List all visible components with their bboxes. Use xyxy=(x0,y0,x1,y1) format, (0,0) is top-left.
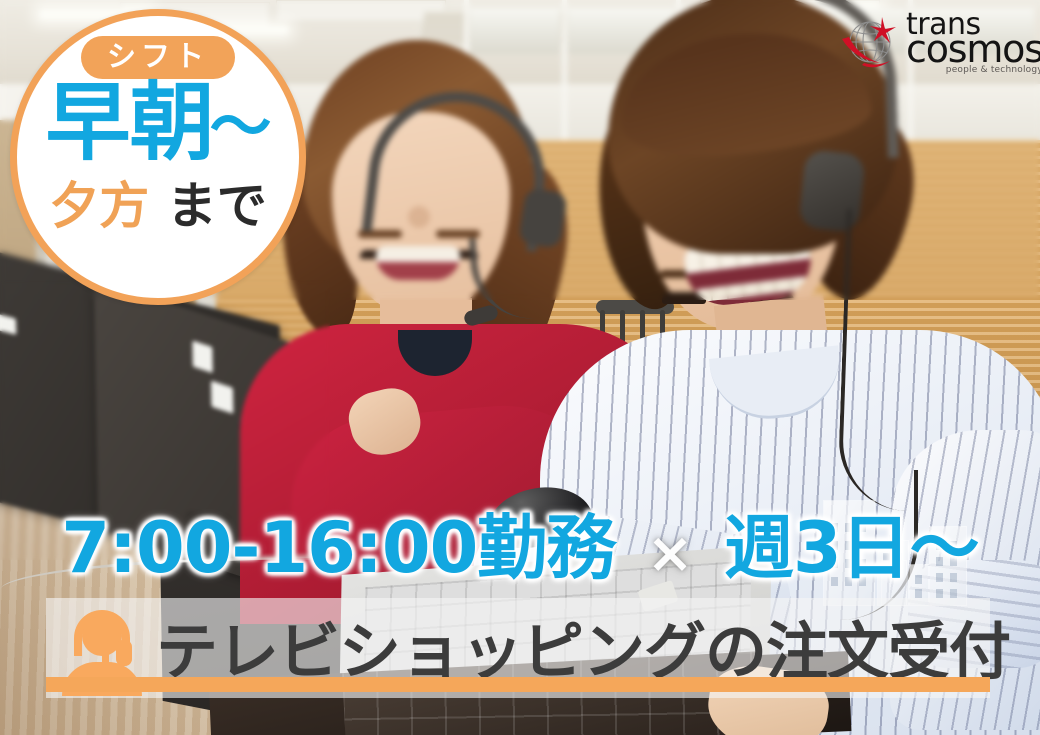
logo-tagline: people & technology xyxy=(906,67,1040,75)
shift-start-label: 早朝 〜 xyxy=(45,81,270,168)
logo-line-cosmos: cosmos xyxy=(906,34,1040,66)
recruitment-poster: シフト 早朝 〜 夕方 まで xyxy=(0,0,1040,735)
shift-end-suffix: まで xyxy=(167,177,267,235)
shift-headline: 7:00-16:00勤務 × 週3日〜 xyxy=(0,492,1040,593)
banner-underline xyxy=(46,677,990,692)
tilde-glyph: 〜 xyxy=(210,95,271,158)
shift-pill-label: シフト xyxy=(81,36,235,79)
globe-swoosh-icon xyxy=(840,13,900,73)
headline-separator: × xyxy=(639,521,701,586)
smiling-mouth xyxy=(376,246,460,280)
headline-frequency: 週3日〜 xyxy=(724,507,979,589)
headline-time-range: 7:00-16:00勤務 xyxy=(61,507,615,589)
ceiling-panel xyxy=(276,0,446,22)
laptop-sticker xyxy=(211,381,233,414)
shift-end-label: 夕方 まで xyxy=(49,166,266,238)
transcosmos-logo: trans cosmos people & technology xyxy=(840,6,1026,80)
teeth xyxy=(376,246,460,262)
headset-cord xyxy=(837,209,917,511)
logo-wordmark: trans cosmos people & technology xyxy=(906,12,1040,75)
laptop-sticker xyxy=(0,312,16,335)
shift-start-text: 早朝 xyxy=(45,81,213,168)
shift-badge: シフト 早朝 〜 夕方 まで xyxy=(10,9,306,305)
shift-end-text: 夕方 xyxy=(49,177,149,235)
laptop-sticker xyxy=(192,340,212,373)
